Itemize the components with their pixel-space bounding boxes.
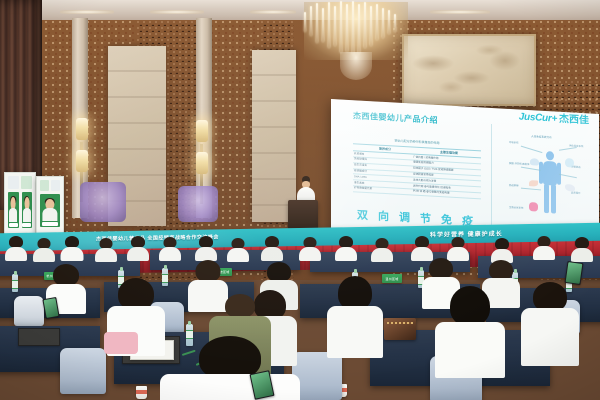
intestine-icon xyxy=(529,202,538,212)
attendee xyxy=(62,236,82,260)
water-bottle-icon xyxy=(162,268,168,286)
paper-cup xyxy=(136,386,147,399)
diagram-title: 人体免疫系统分布 xyxy=(531,134,552,139)
slide-title: 杰西佳婴幼儿产品介绍 xyxy=(353,110,438,126)
table-placard: 温州区域 xyxy=(382,274,402,283)
audience-area: 杭州区域 宁波区域 温州区域 嘉兴区域 xyxy=(0,236,600,400)
chair xyxy=(60,348,106,394)
attendee xyxy=(96,238,116,262)
human-body-icon xyxy=(539,151,561,214)
chandelier-icon xyxy=(296,0,416,92)
floral-arrangement xyxy=(80,182,126,222)
standee-banner-left xyxy=(4,172,36,236)
attendee-foreground xyxy=(440,286,500,376)
bone-icon xyxy=(565,184,575,192)
attendee-foreground xyxy=(330,276,380,354)
attendee xyxy=(6,236,26,260)
handbag xyxy=(384,318,416,340)
chair xyxy=(14,296,44,326)
diagram-label-left: 胸腺 淋巴结 扁桃体 xyxy=(509,161,529,166)
attendee xyxy=(128,236,148,260)
attendee xyxy=(262,236,282,260)
lung-icon xyxy=(530,158,539,166)
attendee xyxy=(412,236,432,260)
wall-sconce-icon xyxy=(76,150,88,174)
carved-relief-panel xyxy=(402,34,536,106)
attendee xyxy=(492,238,512,262)
attendee xyxy=(34,238,54,262)
standee-banner-left-2 xyxy=(36,176,64,234)
slide-table: 婴幼儿配方奶粉中乳铁蛋白的作用 营养成分 主要生理功能 乳铁蛋白 广谱抗菌 / … xyxy=(353,136,481,199)
wall-panel-mid xyxy=(252,50,296,222)
attendee xyxy=(160,237,180,261)
immune-system-diagram: 人体免疫系统分布 呼吸系统 胸腺 淋巴结 扁桃体 肠道屏障 生殖泌尿系统 消化吸… xyxy=(509,131,593,232)
diagram-label-left: 生殖泌尿系统 xyxy=(509,205,523,210)
attendee xyxy=(300,237,320,261)
cell-cluster-icon xyxy=(565,158,574,168)
lectern xyxy=(288,200,318,230)
notepad xyxy=(18,328,60,346)
attendee xyxy=(336,236,356,260)
smartphone-icon[interactable] xyxy=(565,261,584,285)
water-bottle-icon xyxy=(12,274,18,292)
floral-arrangement xyxy=(178,186,218,222)
attendee xyxy=(228,238,248,262)
slide-divider xyxy=(491,124,492,236)
logo-cn: 杰西佳 xyxy=(559,114,589,127)
diagram-label-left: 呼吸系统 xyxy=(509,140,519,145)
logo-plus: + xyxy=(551,113,557,124)
logo-latin: JusCur xyxy=(519,111,552,124)
pink-bag xyxy=(104,332,138,354)
attendee-foreground xyxy=(524,282,576,366)
wall-sconce-icon xyxy=(196,152,208,176)
diagram-label-left: 肠道屏障 xyxy=(509,183,519,188)
stomach-icon xyxy=(529,180,538,187)
attendee xyxy=(572,237,592,261)
attendee xyxy=(196,236,216,260)
attendee xyxy=(372,238,392,262)
attendee xyxy=(534,236,554,260)
conference-hall-photo: 杰西佳婴幼儿产品介绍 JusCur+杰西佳 婴幼儿配方奶粉中乳铁蛋白的作用 营养… xyxy=(0,0,600,400)
